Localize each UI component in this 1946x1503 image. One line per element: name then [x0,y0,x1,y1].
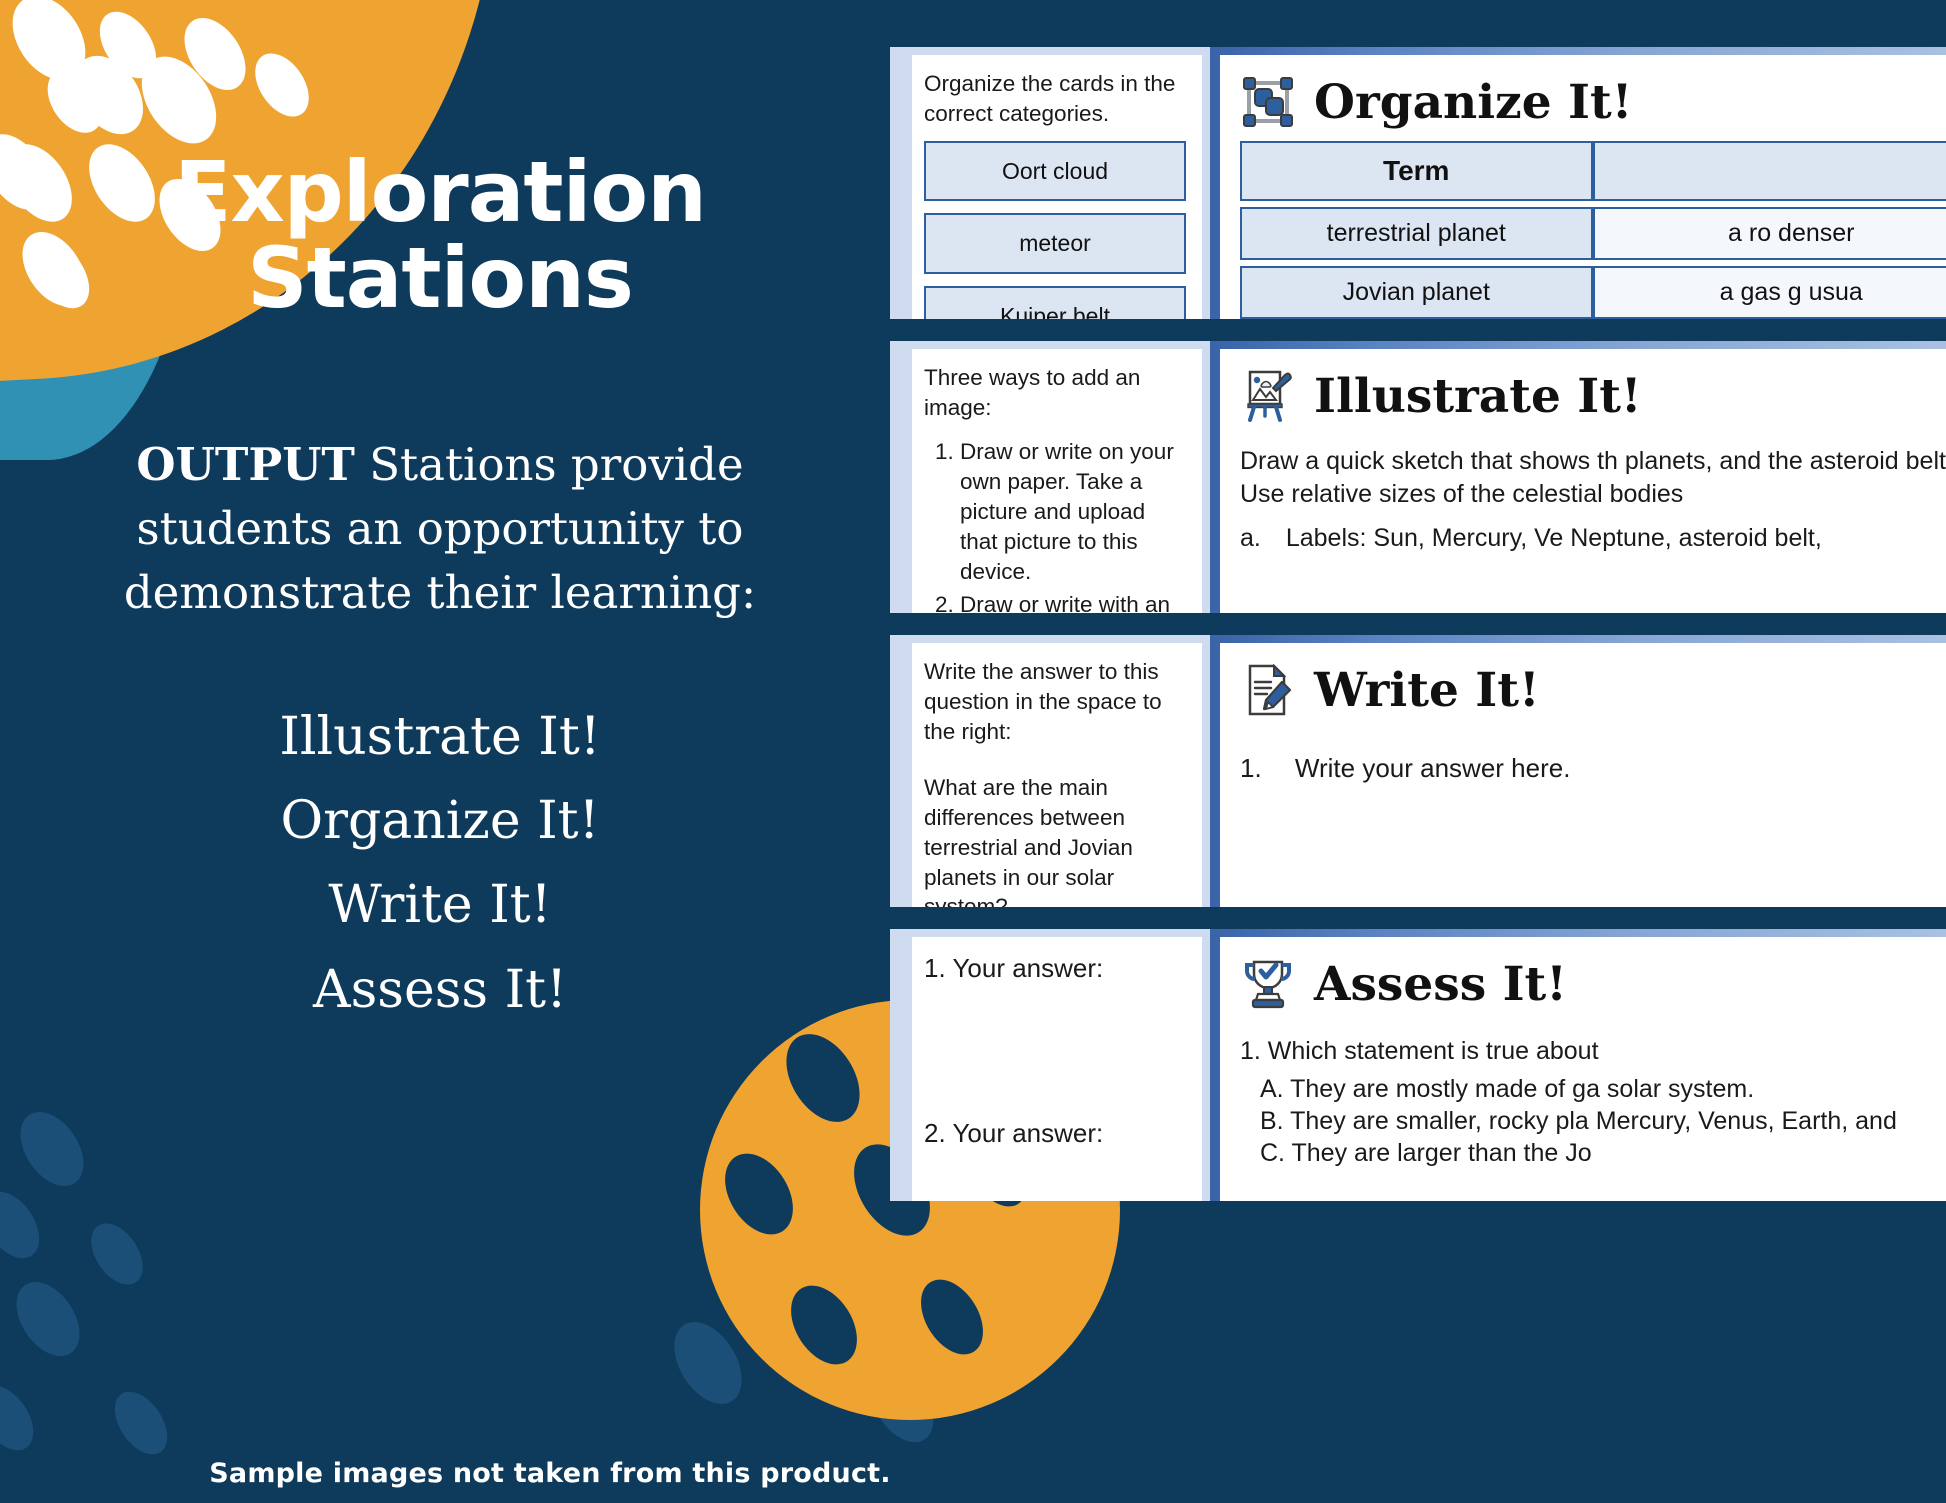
slide-assess-left-pane: 1. Your answer: 2. Your answer: [890,929,1210,1201]
illustrate-card-sub: a. Labels: Sun, Mercury, Ve Neptune, ast… [1240,510,1946,555]
poster-stage: Exploration Stations OUTPUT Stations pro… [0,0,1946,1503]
trophy-check-icon [1240,956,1296,1012]
slide-organize-it[interactable]: Organize the cards in the correct catego… [890,47,1946,319]
organize-header-definition [1593,141,1946,201]
organize-frame-icon [1240,74,1296,130]
organize-cell-def-1: a ro denser [1593,207,1946,260]
station-list-item-organize: Organize It! [281,779,600,863]
slide-write-left-pane: Write the answer to this question in the… [890,635,1210,907]
slide-illustrate-left-content: Three ways to add an image: Draw or writ… [912,349,1202,613]
slide-organize-left-pane: Organize the cards in the correct catego… [890,47,1210,319]
organize-cell-def-2: a gas g usua [1593,266,1946,319]
organize-header-term: Term [1240,141,1593,201]
document-pencil-icon [1240,662,1296,718]
write-question: What are the main differences between te… [924,773,1186,907]
illustrate-card-title: Illustrate It! [1314,369,1642,424]
assess-question: 1. Which statement is true about [1240,1035,1946,1067]
slide-organize-right-content: Organize It! Term terrestrial planet a r… [1220,55,1946,319]
table-row: terrestrial planet a ro denser [1240,207,1946,260]
slide-illustrate-it[interactable]: Three ways to add an image: Draw or writ… [890,341,1946,613]
station-list: Illustrate It! Organize It! Write It! As… [279,695,600,1032]
organize-chip-oort[interactable]: Oort cloud [924,141,1186,202]
illustrate-card-head: Illustrate It! [1240,359,1946,433]
page-title-line1: Exploration [174,150,706,236]
organize-table-header-row: Term [1240,141,1946,201]
assess-question-block: 1. Which statement is true about A. They… [1240,1021,1946,1169]
slide-preview-panel: Organize the cards in the correct catego… [890,47,1946,1457]
illustrate-card-body: Draw a quick sketch that shows th planet… [1240,433,1946,510]
slide-assess-right-pane: Assess It! 1. Which statement is true ab… [1210,929,1946,1201]
assess-option-a[interactable]: A. They are mostly made of ga solar syst… [1240,1073,1946,1105]
slide-illustrate-right-content: Illustrate It! Draw a quick sketch that … [1220,349,1946,613]
slide-assess-it[interactable]: 1. Your answer: 2. Your answer: [890,929,1946,1201]
page-title-line2: Stations [174,236,706,322]
assess-card-head: Assess It! [1240,947,1946,1021]
assess-option-c[interactable]: C. They are larger than the Jo [1240,1137,1946,1169]
write-card-head: Write It! [1240,653,1946,727]
organize-chip-meteor[interactable]: meteor [924,213,1186,274]
slide-organize-left-content: Organize the cards in the correct catego… [912,55,1202,319]
page-title: Exploration Stations [174,150,706,321]
organize-cell-term-1: terrestrial planet [1240,207,1593,260]
organize-table: Term terrestrial planet a ro denser Jovi… [1240,141,1946,319]
write-answer-line[interactable]: 1. Write your answer here. [1240,753,1946,784]
list-item: Draw or write on your own paper. Take a … [960,437,1186,587]
slide-write-right-pane: Write It! 1. Write your answer here. [1210,635,1946,907]
slide-write-right-content: Write It! 1. Write your answer here. [1220,643,1946,907]
station-list-item-write: Write It! [328,863,551,947]
assess-option-b[interactable]: B. They are smaller, rocky pla Mercury, … [1240,1105,1946,1137]
organize-chip-kuiper[interactable]: Kuiper belt [924,286,1186,319]
table-row: Jovian planet a gas g usua [1240,266,1946,319]
illustrate-steps-list: Draw or write on your own paper. Take a … [924,437,1186,613]
footer-disclaimer: Sample images not taken from this produc… [0,1458,1100,1489]
station-list-item-illustrate: Illustrate It! [279,695,600,779]
left-text-column: Exploration Stations OUTPUT Stations pro… [0,0,880,1503]
station-list-item-assess: Assess It! [313,948,567,1032]
slide-illustrate-right-pane: Illustrate It! Draw a quick sketch that … [1210,341,1946,613]
slide-organize-right-pane: Organize It! Term terrestrial planet a r… [1210,47,1946,319]
organize-card-head: Organize It! [1240,65,1946,139]
organize-cell-term-2: Jovian planet [1240,266,1593,319]
assess-answer-slot-2[interactable]: 2. Your answer: [924,1116,1186,1151]
slide-write-left-content: Write the answer to this question in the… [912,643,1202,907]
organize-card-title: Organize It! [1314,75,1632,130]
slide-write-it[interactable]: Write the answer to this question in the… [890,635,1946,907]
assess-answer-slot-1[interactable]: 1. Your answer: [924,951,1186,986]
intro-paragraph: OUTPUT Stations provide students an oppo… [40,433,840,625]
list-item: Draw or write with an online app. Take a… [960,590,1186,613]
organize-prompt: Organize the cards in the correct catego… [924,69,1186,129]
slide-illustrate-left-pane: Three ways to add an image: Draw or writ… [890,341,1210,613]
write-prompt: Write the answer to this question in the… [924,657,1186,747]
assess-card-title: Assess It! [1314,957,1567,1012]
slide-assess-left-content: 1. Your answer: 2. Your answer: [912,937,1202,1201]
easel-paintbrush-icon [1240,368,1296,424]
intro-bold-word: OUTPUT [136,438,355,491]
slide-assess-right-content: Assess It! 1. Which statement is true ab… [1220,937,1946,1201]
write-card-title: Write It! [1314,663,1540,718]
illustrate-left-heading: Three ways to add an image: [924,363,1186,423]
